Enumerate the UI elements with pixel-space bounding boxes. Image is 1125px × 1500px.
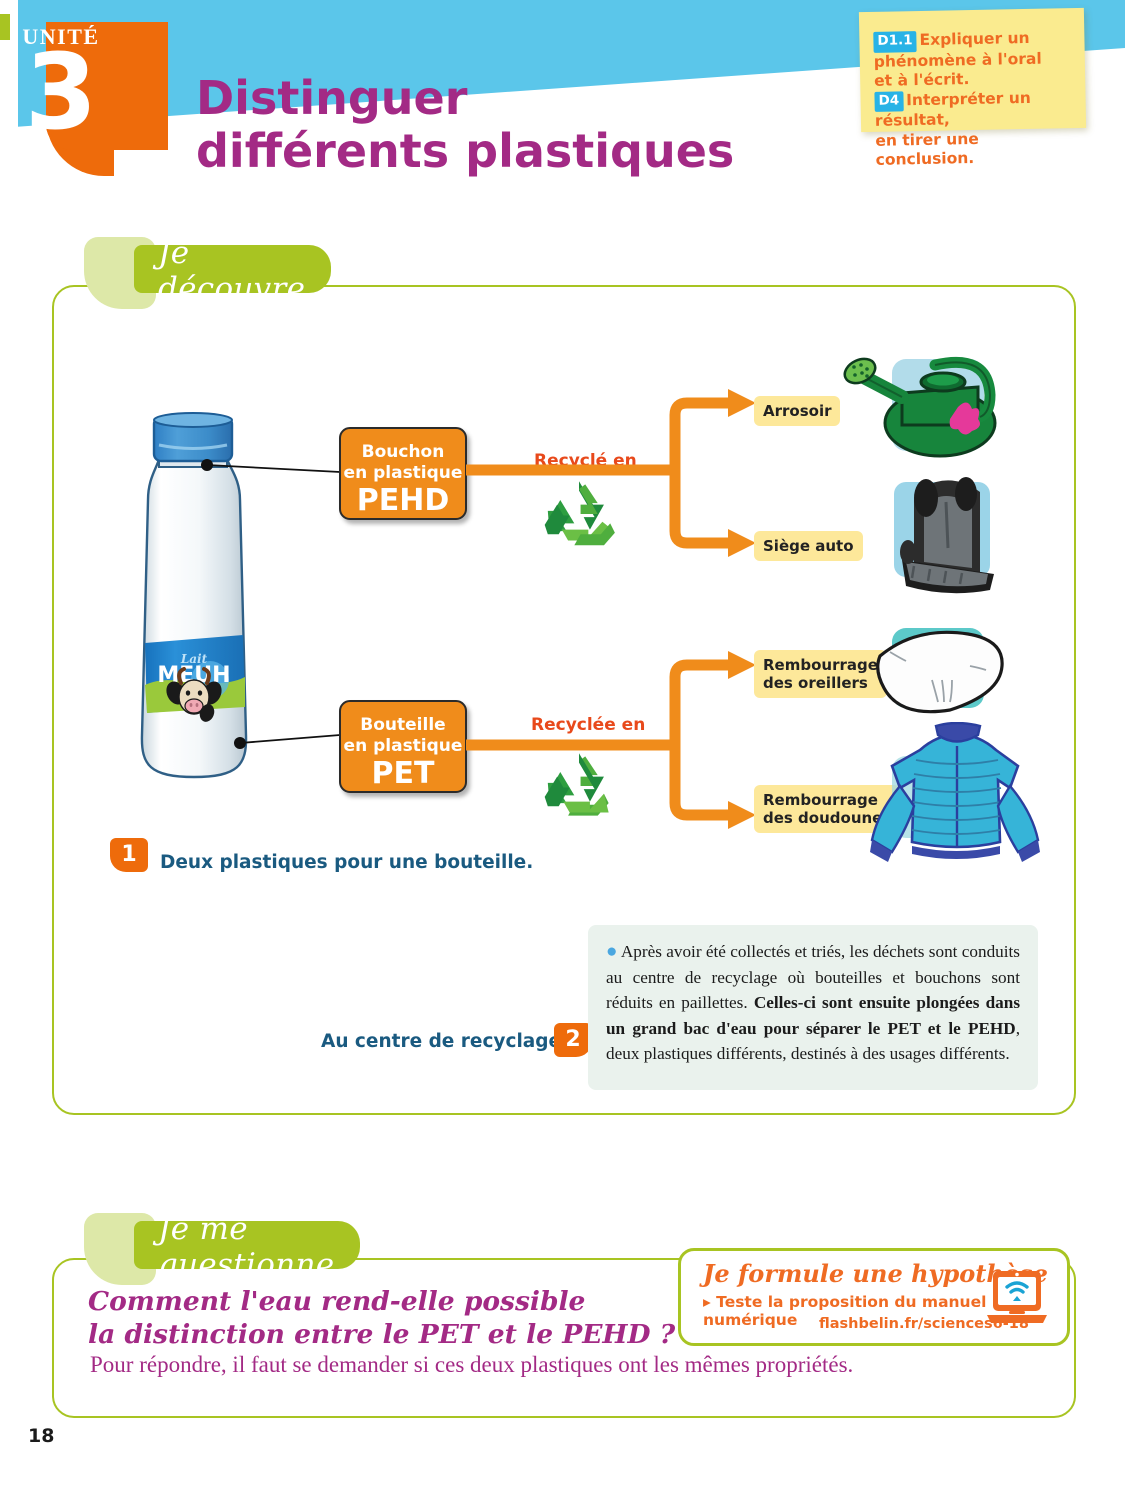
pet-line2: en plastique (341, 736, 465, 757)
caption-marker-2: 2 (554, 1023, 592, 1057)
caption-text-2: Au centre de recyclage. (321, 1031, 568, 1052)
pehd-line1: Bouchon (341, 442, 465, 463)
competency-line-5: en tirer une conclusion. (875, 128, 1075, 171)
down-jacket-image (850, 722, 1065, 872)
car-seat-image (862, 470, 1062, 610)
bullet-dot-icon: ● (606, 941, 618, 962)
product-tag-arrosoir: Arrosoir (754, 396, 840, 426)
competency-sticky-note: D1.1Expliquer un phénomène à l'oral et à… (859, 8, 1086, 132)
competency-line-4: D4Interpréter un résultat, (874, 88, 1074, 132)
recycle-symbol-pet (540, 750, 618, 822)
pehd-line2: en plastique (341, 463, 465, 484)
question-line-1: Comment l'eau rend-elle possible (88, 1285, 708, 1318)
question-subtitle: Pour répondre, il faut se demander si ce… (90, 1352, 990, 1378)
caption-text-1: Deux plastiques pour une bouteille. (160, 852, 533, 873)
competency-text-1: Expliquer un (919, 29, 1029, 49)
pet-code: PET (341, 757, 465, 791)
pillow-image (858, 622, 1058, 732)
pet-line1: Bouteille (341, 715, 465, 736)
laptop-wifi-icon[interactable] (981, 1265, 1053, 1337)
pehd-box: Bouchon en plastique PEHD (339, 427, 467, 520)
unit-number-label: 3 (0, 40, 122, 144)
question-line-2: la distinction entre le PET et le PEHD ? (88, 1318, 708, 1351)
pehd-code: PEHD (341, 484, 465, 518)
question-title: Comment l'eau rend-elle possible la dist… (88, 1285, 708, 1351)
caption-marker-1: 1 (110, 838, 148, 872)
section-tab-questionne: Je me questionne (134, 1221, 360, 1269)
info-text-box: ● Après avoir été collectés et triés, le… (588, 925, 1038, 1090)
page-title-line2: différents plastiques (196, 125, 856, 178)
pet-box: Bouteille en plastique PET (339, 700, 467, 793)
page-number: 18 (28, 1425, 54, 1447)
competency-badge-d4: D4 (874, 91, 903, 112)
hypothesis-tab-shape (0, 14, 10, 40)
watering-can-image (840, 335, 1070, 460)
page-title: Distinguer différents plastiques (196, 72, 856, 178)
recycle-symbol-pehd (540, 478, 618, 550)
section-tab-decouvre: Je découvre (134, 245, 331, 293)
section-title-questionne: Je me questionne (158, 1211, 334, 1283)
hypothesis-box[interactable]: Je formule une hypothèse ▸ Teste la prop… (678, 1248, 1070, 1346)
competency-badge-d11: D1.1 (873, 31, 917, 52)
page-title-line1: Distinguer (196, 72, 856, 125)
section-title-decouvre: Je découvre (158, 235, 305, 307)
product-tag-siege-auto: Siège auto (754, 531, 863, 561)
